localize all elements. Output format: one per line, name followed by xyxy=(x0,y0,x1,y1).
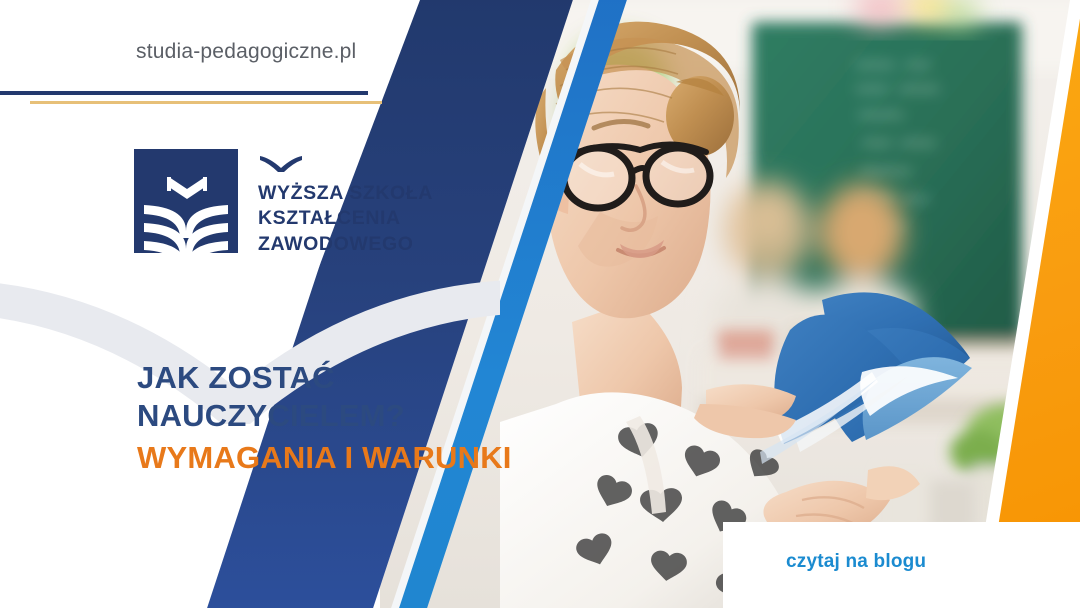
logo-line-3: ZAWODOWEGO xyxy=(258,232,433,257)
headline-line-1: JAK ZOSTAĆ xyxy=(137,359,512,397)
headline-accent-line: WYMAGANIA I WARUNKI xyxy=(137,439,512,477)
university-logo[interactable]: WYŻSZA SZKOŁA KSZTAŁCENIA ZAWODOWEGO xyxy=(134,149,433,257)
site-domain-label: studia-pedagogiczne.pl xyxy=(136,40,356,64)
cta-panel[interactable]: czytaj na blogu xyxy=(723,522,1080,608)
headline-block: JAK ZOSTAĆ NAUCZYCIELEM? WYMAGANIA I WAR… xyxy=(137,359,512,477)
bird-chevron-icon xyxy=(259,155,303,172)
logo-line-1: WYŻSZA SZKOŁA xyxy=(258,181,433,206)
cta-label[interactable]: czytaj na blogu xyxy=(786,551,926,573)
navy-rule xyxy=(0,91,368,95)
logo-text-block: WYŻSZA SZKOŁA KSZTAŁCENIA ZAWODOWEGO xyxy=(258,149,433,257)
logo-line-2: KSZTAŁCENIA xyxy=(258,206,433,231)
headline-line-2: NAUCZYCIELEM? xyxy=(137,397,512,435)
open-book-logo-mark xyxy=(134,149,238,253)
gold-rule xyxy=(30,101,382,104)
promo-banner: studia-pedagogiczne.pl WYŻSZA SZKOŁA KSZ… xyxy=(0,0,1080,608)
